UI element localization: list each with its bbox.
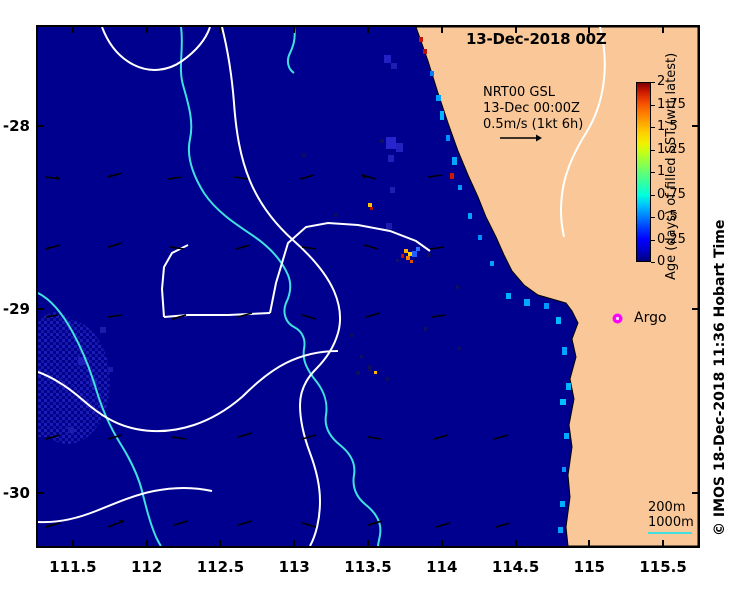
depth-200m-label: 200m	[648, 500, 694, 515]
y-axis-tick	[692, 125, 700, 127]
x-axis-label: 114.5	[486, 558, 546, 576]
x-axis-tick	[515, 25, 517, 33]
y-axis-label: -28	[0, 117, 30, 135]
colorbar-title: Age (days) of filled SST (wrt latest)	[664, 53, 679, 280]
colorbar-tick	[651, 262, 655, 263]
colorbar-tick	[651, 240, 655, 241]
x-axis-tick	[72, 540, 74, 548]
colorbar-tick	[651, 195, 655, 196]
y-axis-tick	[36, 492, 44, 494]
colorbar-gradient	[636, 82, 651, 262]
current-scale-label: 0.5m/s (1kt 6h)	[483, 117, 583, 133]
x-axis-tick	[662, 540, 664, 548]
x-axis-label: 112.5	[190, 558, 250, 576]
x-axis-tick	[441, 25, 443, 33]
depth-contour-legend: 200m 1000m	[648, 500, 694, 530]
x-axis-label: 113.5	[338, 558, 398, 576]
depth-1000m-line-swatch	[648, 532, 692, 534]
reference-vector-arrow	[500, 133, 542, 143]
x-axis-tick	[72, 25, 74, 33]
colorbar-tick	[651, 82, 655, 83]
x-axis-tick	[219, 540, 221, 548]
colorbar-tick	[651, 172, 655, 173]
x-axis-tick	[146, 540, 148, 548]
page-title: 13-Dec-2018 00Z	[466, 30, 607, 48]
x-axis-tick	[441, 540, 443, 548]
x-axis-label: 114	[412, 558, 472, 576]
y-axis-tick	[692, 492, 700, 494]
y-axis-tick	[36, 125, 44, 127]
y-axis-tick	[36, 308, 44, 310]
current-source-label: NRT00 GSL	[483, 85, 583, 101]
x-axis-tick	[662, 25, 664, 33]
x-axis-tick	[367, 25, 369, 33]
y-axis-label: -30	[0, 484, 30, 502]
current-time-label: 13-Dec 00:00Z	[483, 101, 583, 117]
colorbar-tick	[651, 105, 655, 106]
colorbar-tick	[651, 217, 655, 218]
x-axis-tick	[293, 540, 295, 548]
x-axis-tick	[146, 25, 148, 33]
x-axis-tick	[293, 25, 295, 33]
figure-canvas: 13-Dec-2018 00Z NRT00 GSL 13-Dec 00:00Z …	[0, 0, 739, 592]
depth-1000m-label: 1000m	[648, 515, 694, 530]
colorbar-tick	[651, 150, 655, 151]
current-annotation-block: NRT00 GSL 13-Dec 00:00Z 0.5m/s (1kt 6h)	[483, 85, 583, 133]
x-axis-label: 113	[264, 558, 324, 576]
x-axis-tick	[588, 25, 590, 33]
map-plot-area[interactable]	[36, 25, 700, 548]
copyright-notice: © IMOS 18-Dec-2018 11:36 Hobart Time	[712, 220, 728, 536]
map-rendering	[38, 27, 698, 546]
y-axis-label: -29	[0, 300, 30, 318]
x-axis-tick	[367, 540, 369, 548]
argo-marker-icon	[612, 313, 623, 324]
x-axis-label: 112	[117, 558, 177, 576]
argo-legend-label: Argo	[634, 310, 667, 326]
x-axis-label: 111.5	[43, 558, 103, 576]
x-axis-tick	[219, 25, 221, 33]
y-axis-tick	[692, 308, 700, 310]
x-axis-label: 115	[559, 558, 619, 576]
x-axis-tick	[588, 540, 590, 548]
colorbar-tick	[651, 127, 655, 128]
x-axis-label: 115.5	[633, 558, 693, 576]
x-axis-tick	[515, 540, 517, 548]
